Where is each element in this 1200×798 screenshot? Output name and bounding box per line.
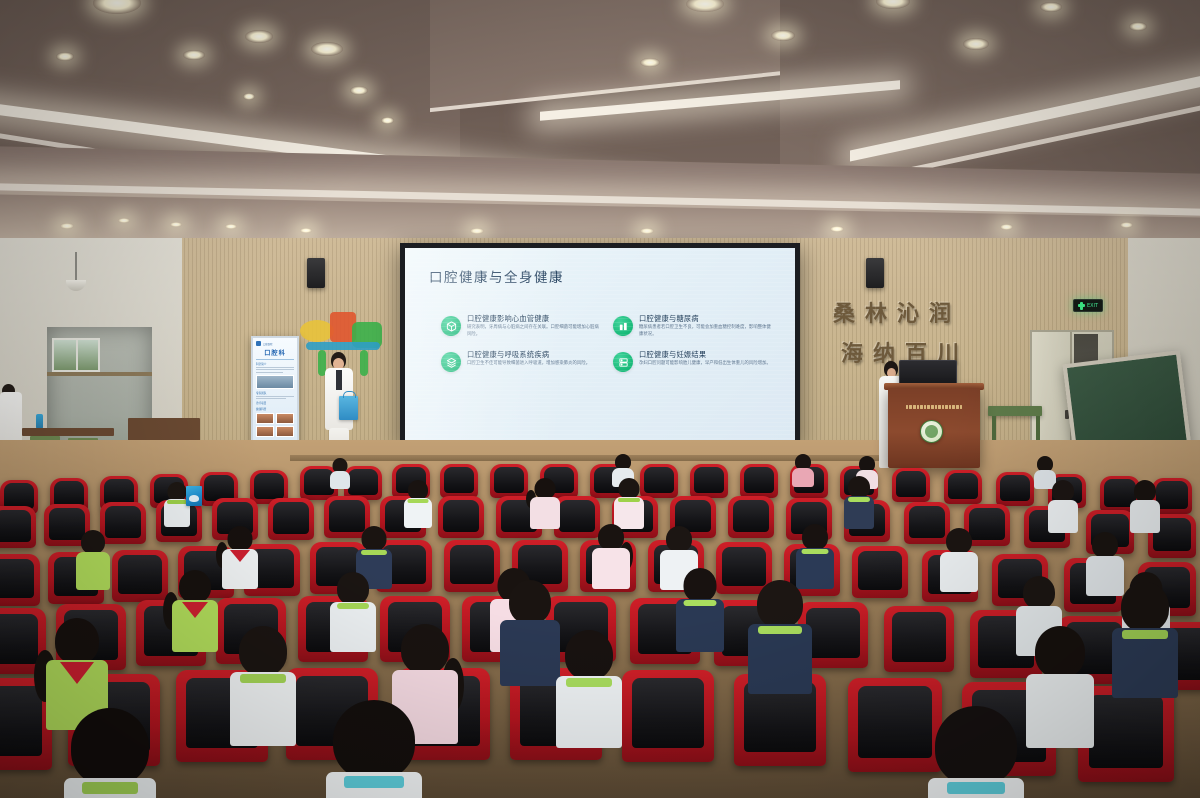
side-table — [22, 428, 114, 436]
downlight — [1040, 2, 1062, 12]
audience-child — [76, 530, 110, 588]
slide-item-desc: 研究表明，牙周病与心脏病之间存在关联。口腔细菌可能增加心脏病风险。 — [467, 325, 599, 338]
seat[interactable] — [884, 606, 954, 672]
slide-item: 口腔健康与糖尿病 糖尿病患者若口腔卫生不良，可能会加重血糖控制难度，影响整体健康… — [613, 314, 771, 338]
green-side-table — [988, 406, 1042, 416]
downlight — [183, 50, 205, 60]
downlight — [56, 52, 74, 61]
poster-section-label: 健康科普 — [256, 407, 294, 411]
downlight-row2 — [1000, 224, 1013, 230]
downlight-row2 — [225, 224, 237, 229]
slide-items-grid: 口腔健康影响心血管健康 研究表明，牙周病与心脏病之间存在关联。口腔细菌可能增加心… — [441, 314, 771, 372]
slide-item-desc: 口腔卫生不佳可能导致细菌进入呼吸道，增加感染肺炎的风险。 — [467, 361, 590, 368]
wall-speaker-left — [307, 258, 325, 288]
slide-item-heading: 口腔健康与妊娠结果 — [639, 350, 771, 359]
booklet[interactable] — [186, 486, 202, 506]
audience-child — [500, 580, 560, 684]
wall-calligraphy-line1: 桑林沁润 — [833, 296, 961, 328]
seat[interactable] — [490, 464, 528, 498]
emergency-exit-sign: EXIT — [1073, 299, 1103, 312]
corridor-wall-band — [47, 372, 152, 376]
poster-brand-row: 口腔医院 — [256, 341, 294, 346]
poster-brand-label: 口腔医院 — [263, 342, 273, 346]
seat[interactable] — [440, 464, 478, 498]
audience-child-front — [326, 700, 422, 798]
slide-item-desc: 糖尿病患者若口腔卫生不良，可能会加重血糖控制难度，影响整体健康状况。 — [639, 325, 771, 338]
wall-art-shape — [300, 320, 334, 342]
slide-surface[interactable]: 口腔健康与全身健康 口腔健康影响心血管健康 研究表明，牙周病与心脏病之间存在关联… — [405, 248, 795, 443]
poster-section-label: 科室简介 — [256, 362, 294, 366]
seat[interactable] — [640, 464, 678, 498]
downlight — [245, 30, 273, 43]
downlight — [311, 42, 343, 56]
slide-item-text: 口腔健康影响心血管健康 研究表明，牙周病与心脏病之间存在关联。口腔细菌可能增加心… — [467, 314, 599, 338]
downlight — [243, 93, 255, 100]
downlight-row2 — [640, 228, 654, 234]
poster-text-lines — [256, 396, 294, 399]
audience-seating — [0, 440, 1200, 798]
seat[interactable] — [438, 496, 484, 538]
audience-child — [222, 526, 258, 588]
dental-department-poster[interactable]: 口腔医院 口腔科 科室简介 专家团队 诊疗项目 健康科普 — [251, 336, 299, 448]
audience-child-front — [64, 708, 156, 798]
downlight — [381, 117, 394, 124]
poster-divider — [256, 359, 294, 360]
cube-icon — [441, 316, 461, 336]
seat[interactable] — [944, 470, 982, 504]
audience-child — [404, 480, 432, 528]
wall-art-shape — [360, 350, 368, 376]
slide-item: 口腔健康与妊娠结果 孕妇口腔问题可能影响胎儿健康，早产和低出生体重儿的风险增加。 — [613, 350, 771, 372]
seat[interactable] — [740, 464, 778, 498]
audience-child — [1026, 626, 1094, 744]
seat[interactable] — [996, 472, 1034, 506]
audience-child — [530, 478, 560, 528]
downlight-row2 — [1120, 222, 1133, 228]
slide-item-text: 口腔健康与糖尿病 糖尿病患者若口腔卫生不良，可能会加重血糖控制难度，影响整体健康… — [639, 314, 771, 338]
wall-speaker-right — [866, 258, 884, 288]
slide-item: 口腔健康影响心血管健康 研究表明，牙周病与心脏病之间存在关联。口腔细菌可能增加心… — [441, 314, 599, 338]
slide-title: 口腔健康与全身健康 — [429, 266, 564, 286]
server-icon — [613, 352, 633, 372]
downlight-row2 — [170, 222, 182, 227]
seat[interactable] — [852, 546, 908, 598]
seat[interactable] — [622, 670, 714, 762]
audience-child — [330, 572, 376, 650]
poster-team-photo — [256, 375, 294, 389]
downlight-row2 — [60, 223, 74, 229]
ceiling — [0, 0, 1200, 252]
slide-item-heading: 口腔健康与呼吸系统疾病 — [467, 350, 590, 359]
downlight — [640, 58, 660, 67]
seat[interactable] — [268, 498, 314, 540]
slide-item-desc: 孕妇口腔问题可能影响胎儿健康，早产和低出生体重儿的风险增加。 — [639, 361, 771, 368]
emblem-inner — [925, 425, 938, 438]
seat[interactable] — [0, 554, 40, 606]
audience-child — [676, 568, 724, 650]
seat[interactable] — [690, 464, 728, 498]
pendant-light-rod — [75, 252, 77, 282]
audience-child — [230, 626, 296, 742]
poster-section-label: 专家团队 — [256, 391, 294, 395]
audience-child — [1130, 480, 1160, 532]
audience-child — [556, 630, 622, 744]
water-bottle — [36, 414, 43, 429]
audience-child — [844, 476, 874, 528]
auditorium-photo: 口腔医院 口腔科 科室简介 专家团队 诊疗项目 健康科普 口腔健康与全身健康 — [0, 0, 1200, 798]
seat[interactable] — [892, 468, 930, 502]
slide-item: 口腔健康与呼吸系统疾病 口腔卫生不佳可能导致细菌进入呼吸道，增加感染肺炎的风险。 — [441, 350, 599, 372]
audience-child — [1112, 582, 1178, 694]
seat[interactable] — [112, 550, 168, 602]
projection-screen-frame: 口腔健康与全身健康 口腔健康影响心血管健康 研究表明，牙周病与心脏病之间存在关联… — [400, 243, 800, 448]
layers-icon — [441, 352, 461, 372]
audience-child — [792, 454, 814, 486]
audience-child — [172, 570, 218, 650]
downlight-row2 — [470, 228, 484, 234]
poster-image-grid — [256, 413, 294, 437]
hospital-logo-icon — [256, 341, 261, 346]
audience-child — [748, 580, 812, 690]
downlight-row2 — [118, 218, 130, 223]
audience-child — [796, 524, 834, 588]
audience-child — [940, 528, 978, 590]
assistant-inner-shirt — [336, 370, 342, 390]
downlight — [350, 86, 368, 95]
seat[interactable] — [728, 496, 774, 538]
slide-item-text: 口腔健康与呼吸系统疾病 口腔卫生不佳可能导致细菌进入呼吸道，增加感染肺炎的风险。 — [467, 350, 590, 368]
poster-text-lines — [256, 367, 294, 373]
audience-child — [1048, 480, 1078, 532]
audience-child — [592, 524, 630, 588]
audience-child — [614, 478, 644, 528]
downlight — [1129, 22, 1147, 31]
downlight-row2 — [830, 226, 844, 232]
downlight — [771, 30, 795, 41]
poster-title: 口腔科 — [256, 348, 294, 357]
slide-item-heading: 口腔健康影响心血管健康 — [467, 314, 599, 323]
downlight — [963, 38, 989, 50]
poster-section-label: 诊疗项目 — [256, 401, 294, 405]
audience-child-front — [928, 706, 1024, 798]
seat[interactable] — [0, 506, 36, 548]
podium-inscription — [893, 404, 975, 410]
slide-item-text: 口腔健康与妊娠结果 孕妇口腔问题可能影响胎儿健康，早产和低出生体重儿的风险增加。 — [639, 350, 771, 368]
running-person-exit-icon — [1078, 302, 1085, 310]
slide-item-heading: 口腔健康与糖尿病 — [639, 314, 771, 323]
exit-sign-label: EXIT — [1087, 303, 1098, 309]
audience-child — [330, 458, 350, 488]
corridor-window — [52, 338, 100, 372]
tote-bag — [339, 396, 358, 420]
wall-art-shape — [306, 342, 380, 350]
downlight-row2 — [300, 228, 312, 233]
book-chart-icon — [613, 316, 633, 336]
